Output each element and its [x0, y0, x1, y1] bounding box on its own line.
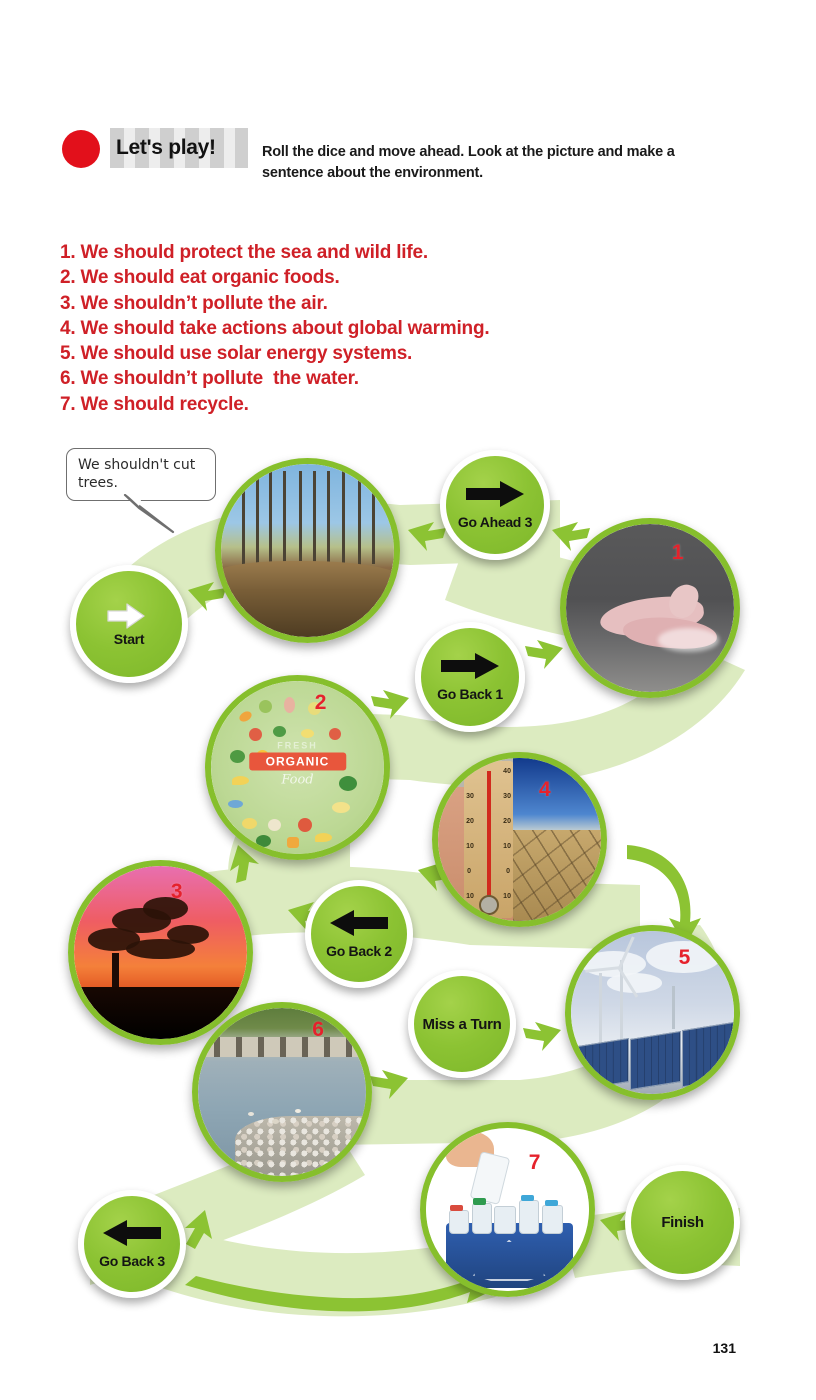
- square-number: 2: [315, 691, 327, 715]
- board-node-start-label: Start: [114, 631, 144, 647]
- square-number: 3: [171, 880, 183, 904]
- page-number: 131: [713, 1340, 736, 1356]
- speech-bubble-tail-icon: [123, 494, 183, 534]
- deforestation-photo: [221, 464, 394, 637]
- board-node-finish[interactable]: Finish: [625, 1165, 740, 1280]
- board-node-start[interactable]: Start: [70, 565, 188, 683]
- air-pollution-photo: [74, 866, 247, 1039]
- board-square-air-pollution[interactable]: 3: [68, 860, 253, 1045]
- board-node-go-back-3-label: Go Back 3: [99, 1253, 165, 1269]
- square-number: 1: [672, 541, 684, 565]
- board-node-finish-label: Finish: [661, 1214, 703, 1231]
- board-square-solar-energy[interactable]: 5: [565, 925, 740, 1100]
- organic-food-photo: FRESH ORGANIC Food: [211, 681, 384, 854]
- board-square-recycling[interactable]: 7: [420, 1122, 595, 1297]
- red-circle-icon: [62, 130, 100, 168]
- board-node-go-back-2[interactable]: Go Back 2: [305, 880, 413, 988]
- board-node-miss-a-turn[interactable]: Miss a Turn: [408, 970, 516, 1078]
- sentence-item: 5. We should use solar energy systems.: [60, 341, 700, 366]
- board-node-go-back-1[interactable]: Go Back 1: [415, 622, 525, 732]
- lets-play-banner: Let's play!: [110, 128, 222, 168]
- organic-main-label: ORGANIC: [249, 753, 346, 771]
- activity-instruction: Roll the dice and move ahead. Look at th…: [262, 142, 682, 183]
- black-arrow-right-icon: [441, 653, 499, 679]
- square-number: 7: [529, 1151, 541, 1175]
- board-node-miss-a-turn-label: Miss a Turn: [423, 1016, 502, 1033]
- speech-bubble: We shouldn't cut trees.: [66, 448, 216, 501]
- white-outline-arrow-right-icon: [105, 601, 147, 631]
- sentence-list: 1. We should protect the sea and wild li…: [60, 240, 700, 417]
- board-square-sea-wildlife[interactable]: 1: [560, 518, 740, 698]
- water-pollution-photo: [198, 1008, 366, 1176]
- sentence-item: 7. We should recycle.: [60, 392, 700, 417]
- speech-bubble-text: We shouldn't cut trees.: [78, 457, 195, 491]
- board-node-go-back-1-label: Go Back 1: [437, 686, 503, 702]
- sentence-item: 3. We shouldn’t pollute the air.: [60, 291, 700, 316]
- board-square-organic-food[interactable]: FRESH ORGANIC Food 2: [205, 675, 390, 860]
- sentence-item: 2. We should eat organic foods.: [60, 265, 700, 290]
- board-square-deforestation[interactable]: [215, 458, 400, 643]
- global-warming-photo: 4040 3030 2020 1010 00 1010: [438, 758, 601, 921]
- board-square-water-pollution[interactable]: 6: [192, 1002, 372, 1182]
- square-number: 4: [539, 778, 551, 802]
- board-game: Start Go Ahead 3 1: [0, 430, 816, 1330]
- square-number: 6: [312, 1018, 324, 1042]
- activity-title: Let's play!: [110, 136, 222, 160]
- black-arrow-left-icon: [103, 1220, 161, 1246]
- solar-energy-photo: [571, 931, 734, 1094]
- worksheet-page: Let's play! Roll the dice and move ahead…: [0, 0, 816, 1400]
- activity-header: Let's play!: [62, 128, 222, 174]
- black-arrow-right-icon: [466, 481, 524, 507]
- board-square-global-warming[interactable]: 4040 3030 2020 1010 00 1010 4: [432, 752, 607, 927]
- organic-food-label: Food: [232, 773, 363, 788]
- square-number: 5: [679, 946, 691, 970]
- board-node-go-back-3[interactable]: Go Back 3: [78, 1190, 186, 1298]
- sentence-item: 4. We should take actions about global w…: [60, 316, 700, 341]
- board-node-go-back-2-label: Go Back 2: [326, 943, 392, 959]
- sentence-item: 1. We should protect the sea and wild li…: [60, 240, 700, 265]
- board-node-go-ahead-3-label: Go Ahead 3: [458, 514, 532, 530]
- pink-dolphins-photo: [566, 524, 734, 692]
- recycling-photo: [426, 1128, 589, 1291]
- black-arrow-left-icon: [330, 910, 388, 936]
- organic-fresh-label: FRESH: [232, 741, 363, 751]
- sentence-item: 6. We shouldn’t pollute the water.: [60, 366, 700, 391]
- board-node-go-ahead-3[interactable]: Go Ahead 3: [440, 450, 550, 560]
